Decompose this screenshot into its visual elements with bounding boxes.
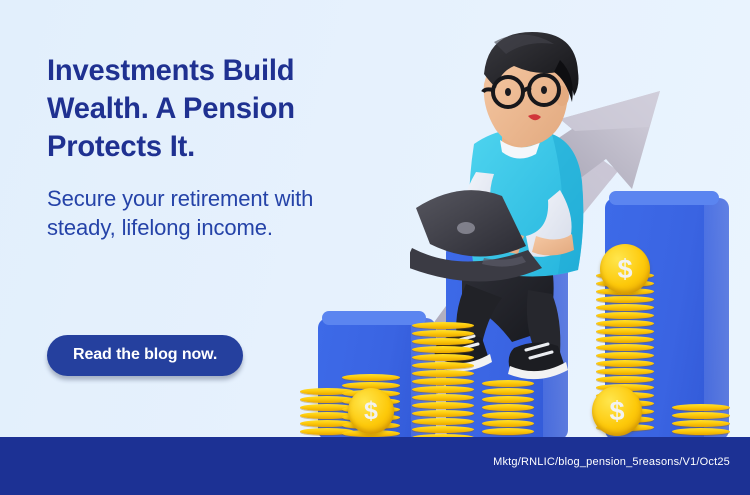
subheadline: Secure your retirement with steady, life… [47,184,377,242]
coin-large-1: $ [348,388,394,434]
coin-stack-6 [672,404,730,436]
footer-bar: Mktg/RNLIC/blog_pension_5reasons/V1/Oct2… [0,437,750,495]
headline: Investments Build Wealth. A Pension Prot… [47,52,367,166]
campaign-code: Mktg/RNLIC/blog_pension_5reasons/V1/Oct2… [493,456,730,468]
headline-line-3: Protects It. [47,130,195,163]
headline-line-1: Investments Build [47,54,294,87]
headline-line-2: Wealth. A Pension [47,92,295,125]
promo-banner: $ $ $ [0,0,750,495]
subheadline-line-1: Secure your retirement with [47,186,313,211]
coin-stack-4 [482,380,534,436]
read-blog-button[interactable]: Read the blog now. [47,335,243,376]
cta-container: Read the blog now. [47,335,243,376]
copy-block: Investments Build Wealth. A Pension Prot… [47,52,377,242]
coin-large-3: $ [592,386,642,436]
coin-stack-3 [412,322,474,442]
coin-large-2: $ [600,244,650,294]
subheadline-line-2: steady, lifelong income. [47,215,273,240]
